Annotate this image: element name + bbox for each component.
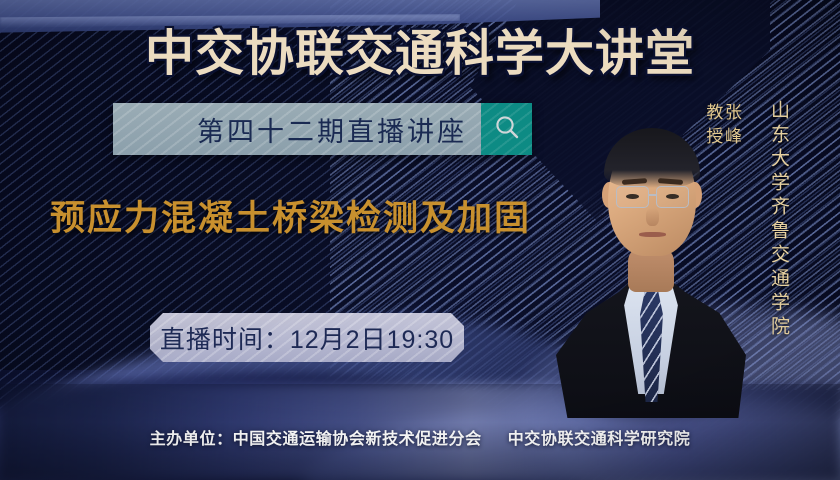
subtitle-bar: 第四十二期直播讲座 <box>113 103 532 155</box>
search-button[interactable] <box>481 103 532 155</box>
live-time-banner: 直播时间：12月2日19:30 <box>150 313 464 362</box>
portrait-glasses-right-lens <box>656 186 689 208</box>
portrait-mouth <box>639 232 666 237</box>
footer-organizers: 主办单位：中国交通运输协会新技术促进分会中交协联交通科学研究院 <box>0 425 840 449</box>
speaker-name: 张峰 <box>722 103 741 151</box>
speaker-title: 教授 <box>703 103 722 151</box>
speaker-portrait <box>556 118 746 418</box>
portrait-nose <box>646 208 659 226</box>
search-icon <box>493 113 521 146</box>
topic-title: 预应力混凝土桥梁检测及加固 <box>50 190 570 241</box>
subtitle-bar-body: 第四十二期直播讲座 <box>113 103 481 155</box>
portrait-hair <box>604 128 700 188</box>
footer-organizer-2: 中交协联交通科学研究院 <box>508 431 691 448</box>
subtitle-bar-label: 第四十二期直播讲座 <box>197 110 467 149</box>
footer-organizer-1: 中国交通运输协会新技术促进分会 <box>233 431 482 448</box>
portrait-glasses-left-lens <box>616 186 649 208</box>
main-title: 中交协联交通科学大讲堂 <box>0 14 840 85</box>
webinar-poster: 中交协联交通科学大讲堂 第四十二期直播讲座 预应力混凝土桥梁检测及加固 直播时间… <box>0 0 840 480</box>
speaker-name-title-vertical: 张峰 教授 <box>714 103 740 151</box>
footer-prefix: 主办单位： <box>150 431 233 448</box>
live-time-label: 直播时间：12月2日19:30 <box>160 320 454 356</box>
portrait-glasses-bridge <box>649 194 656 196</box>
speaker-affiliation: 山东大学齐鲁交通学院 <box>766 100 792 340</box>
